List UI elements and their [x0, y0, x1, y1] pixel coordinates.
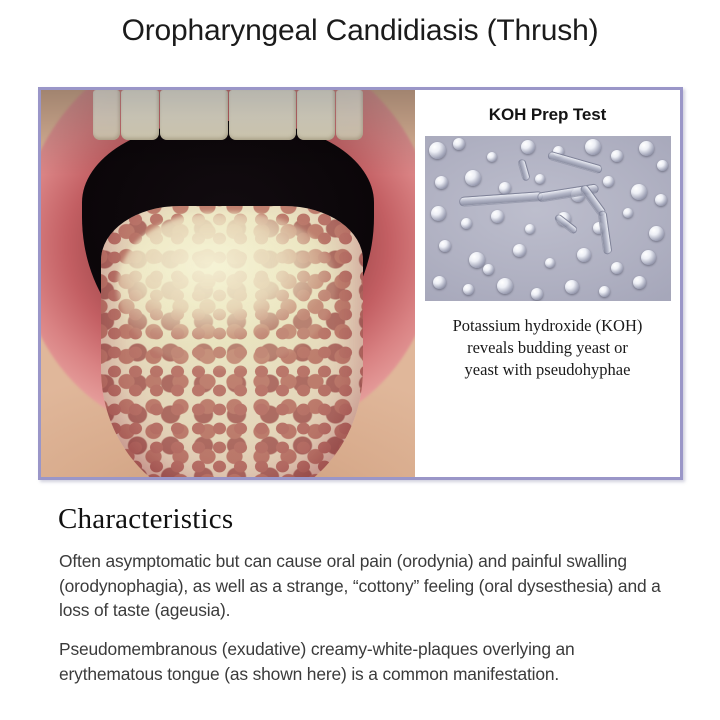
photo-tongue	[101, 206, 363, 477]
koh-panel: KOH Prep Test	[415, 90, 680, 477]
koh-micrograph-image	[425, 136, 671, 301]
koh-caption: Potassium hydroxide (KOH) reveals buddin…	[441, 315, 655, 380]
characteristics-paragraph-2: Pseudomembranous (exudative) creamy-whit…	[59, 637, 671, 686]
koh-caption-line-1: Potassium hydroxide (KOH)	[453, 315, 643, 337]
characteristics-body: Often asymptomatic but can cause oral pa…	[59, 549, 671, 701]
clinical-photo-thrush-tongue	[41, 90, 415, 477]
characteristics-heading: Characteristics	[58, 503, 233, 536]
page-title: Oropharyngeal Candidiasis (Thrush)	[0, 14, 720, 48]
koh-panel-heading: KOH Prep Test	[489, 105, 606, 125]
figure-frame: KOH Prep Test	[38, 87, 683, 480]
koh-caption-line-3: yeast with pseudohyphae	[453, 359, 643, 381]
koh-caption-line-2: reveals budding yeast or	[453, 337, 643, 359]
micrograph-pseudohyphae	[425, 136, 671, 301]
photo-top-shadow	[41, 90, 415, 175]
characteristics-paragraph-1: Often asymptomatic but can cause oral pa…	[59, 549, 671, 623]
